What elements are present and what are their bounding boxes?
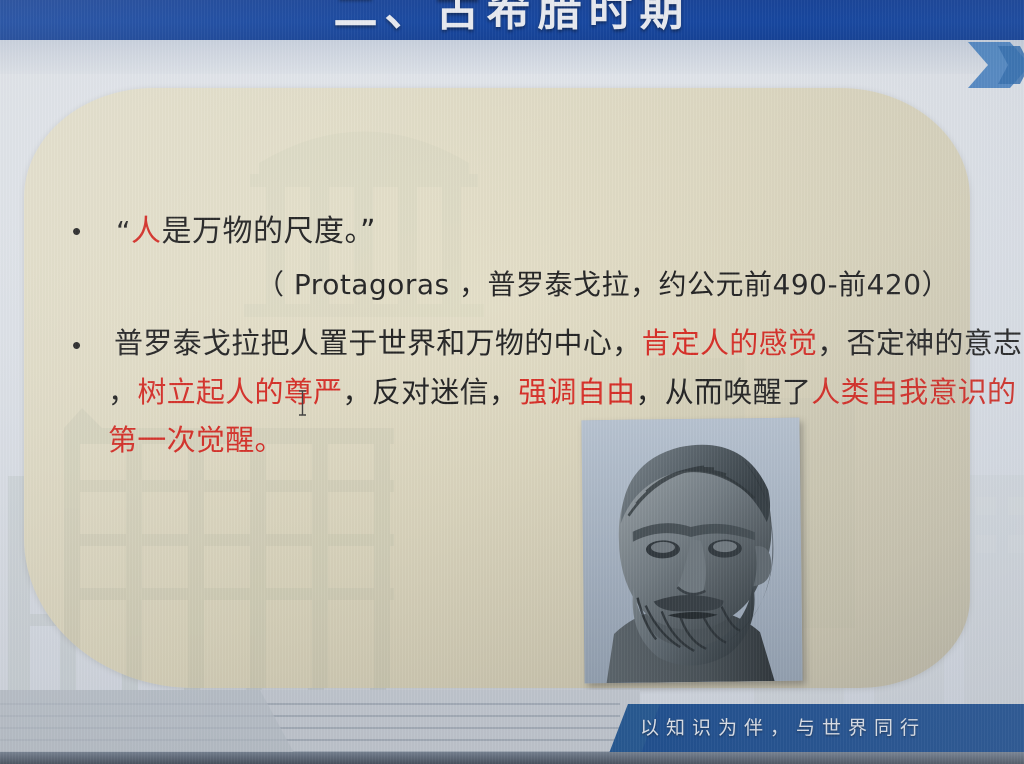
bust-illustration-icon <box>581 418 802 684</box>
para2-seg5: ，从而唤醒了 <box>635 375 811 409</box>
attribution-line: （ Protagoras ，普罗泰戈拉，约公元前490-前420） <box>256 263 950 303</box>
text-cursor-icon <box>298 390 307 416</box>
para2-seg3: ，反对迷信， <box>342 375 518 409</box>
header-underband <box>0 40 1024 74</box>
quote-rest: 是万物的尺度。” <box>162 214 377 249</box>
quote-open: “ <box>116 215 131 248</box>
paragraph-line-2: ，树立起人的尊严，反对迷信，强调自由，从而唤醒了人类自我意识的 <box>108 369 1016 411</box>
screen-bottom-edge <box>0 752 1024 764</box>
slide-photo-screen: 二、古希腊时期 <box>0 0 1024 764</box>
footer-slogan: 以知识为伴，与世界同行 <box>640 713 926 740</box>
para1-seg1: 普罗泰戈拉把人置于世界和万物的中心， <box>114 326 641 360</box>
para2-seg4: 强调自由 <box>518 375 635 409</box>
para2-seg1: ， <box>108 375 137 409</box>
presentation-slide: 二、古希腊时期 <box>0 0 1024 764</box>
paragraph-line-3: 第一次觉醒。 <box>108 417 284 459</box>
quote-red-char: 人 <box>131 214 162 249</box>
para1-seg2: 肯定人的感觉 <box>641 326 817 360</box>
slide-text-content: • “人是万物的尺度。” （ Protagoras ，普罗泰戈拉，约公元前490… <box>24 88 970 688</box>
quote-line: “人是万物的尺度。” <box>116 206 376 250</box>
bullet-marker-2: • <box>72 332 81 358</box>
bullet-marker-1: • <box>72 218 81 244</box>
para1-seg3: ，否定神的意志 <box>817 326 1022 360</box>
paragraph-line-1: 普罗泰戈拉把人置于世界和万物的中心，肯定人的感觉，否定神的意志 <box>114 320 1022 362</box>
para2-seg6: 人类自我意识的 <box>811 375 1016 409</box>
chevron-right-icon <box>968 42 1024 88</box>
para2-seg2: 树立起人的尊严 <box>137 375 342 409</box>
page-title: 二、古希腊时期 <box>0 0 1024 38</box>
philosopher-bust-image <box>581 418 802 684</box>
